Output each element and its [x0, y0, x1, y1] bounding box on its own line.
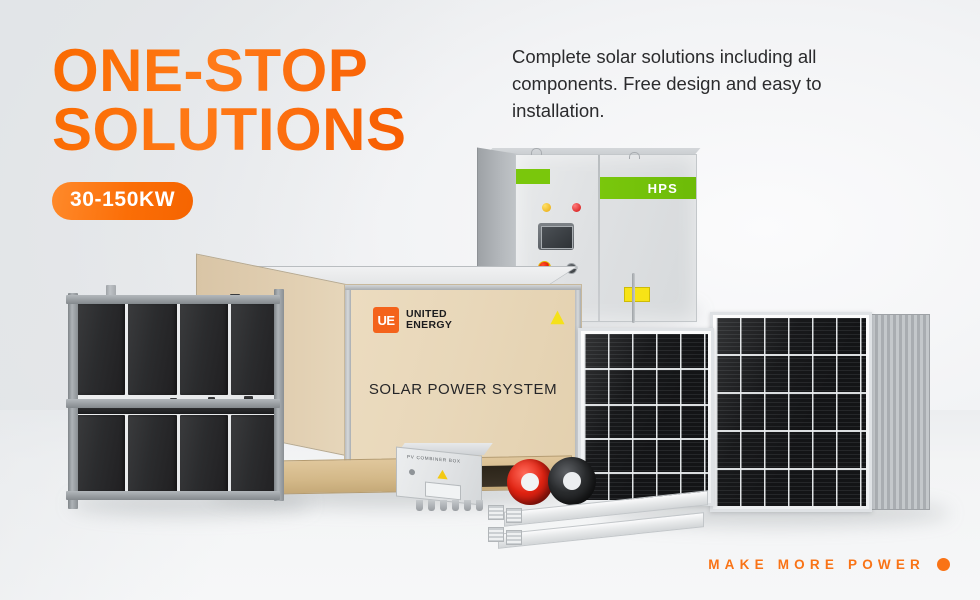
- panel-busbar: [584, 404, 708, 406]
- mounting-rail-bundle: [488, 497, 708, 551]
- combiner-box-knob: [409, 469, 415, 476]
- battery-row-bottom: [76, 415, 280, 493]
- tagline-text: MAKE MORE POWER: [708, 557, 925, 572]
- solar-panel-array: [578, 300, 980, 515]
- battery-block: [128, 303, 177, 395]
- cable-gland: [464, 500, 471, 511]
- page-title: ONE-STOP SOLUTIONS: [52, 42, 407, 160]
- combiner-warning-triangle-icon: [437, 469, 448, 480]
- tagline-dot-icon: [937, 558, 950, 571]
- inverter-green-band-right: HPS: [600, 177, 696, 199]
- solar-panel-rear: [578, 328, 714, 506]
- power-range-badge: 30-150KW: [52, 182, 193, 220]
- rack-beam-bottom: [66, 491, 280, 500]
- combiner-spec-plate: [425, 482, 461, 501]
- solar-product-banner: HPS: [0, 0, 980, 600]
- inverter-model-label: HPS: [648, 181, 678, 196]
- ue-logo-mark: UE: [373, 307, 399, 333]
- rack-beam-top: [66, 295, 280, 304]
- solar-panel-front: [710, 312, 872, 512]
- panel-busbar: [584, 368, 708, 370]
- indicator-lamp-yellow: [542, 203, 551, 212]
- battery-row-top: [76, 303, 280, 395]
- cable-gland: [416, 500, 423, 511]
- panel-busbar: [584, 438, 708, 440]
- battery-block: [76, 303, 125, 395]
- lifting-hook-left: [531, 148, 542, 155]
- battery-block: [231, 303, 280, 395]
- ue-logo-wordmark: UNITED ENERGY: [406, 309, 452, 332]
- panel-busbar: [716, 354, 866, 356]
- battery-block: [76, 415, 125, 493]
- rail-end-profile: [488, 527, 504, 542]
- cable-gland: [440, 500, 447, 511]
- rack-post-front-right: [274, 289, 284, 501]
- rack-beam-middle: [66, 399, 280, 408]
- rail-end-profile: [506, 508, 522, 523]
- lifting-hook-right: [629, 152, 640, 159]
- rack-shelf-middle: [74, 407, 282, 414]
- panel-edge-stack: [868, 314, 930, 510]
- hmi-screen: [541, 226, 573, 249]
- indicator-lamp-red: [572, 203, 581, 212]
- crate-product-title: SOLAR POWER SYSTEM: [345, 381, 581, 398]
- cable-gland: [428, 500, 435, 511]
- tagline-block: MAKE MORE POWER: [708, 557, 950, 572]
- cable-gland: [476, 500, 483, 511]
- hmi-touch-panel: [538, 223, 574, 250]
- panel-busbar: [716, 468, 866, 470]
- solar-cell-grid: [584, 334, 708, 500]
- crate-frame-top: [345, 285, 581, 290]
- battery-block: [180, 303, 229, 395]
- rail-end-profile: [488, 505, 504, 520]
- headline-block: ONE-STOP SOLUTIONS 30-150KW: [52, 42, 407, 220]
- united-energy-logo: UE UNITED ENERGY: [373, 307, 452, 333]
- combiner-box-front: PV COMBINER BOX: [396, 446, 482, 505]
- battery-block: [180, 415, 229, 493]
- battery-block: [231, 415, 280, 493]
- panel-busbar: [716, 392, 866, 394]
- battery-rack: [58, 285, 298, 510]
- pv-combiner-box: PV COMBINER BOX: [390, 443, 494, 511]
- panel-busbar: [716, 430, 866, 432]
- panel-busbar: [584, 472, 708, 474]
- combiner-box-label: PV COMBINER BOX: [407, 454, 461, 464]
- rail-end-profile: [506, 530, 522, 545]
- battery-block: [128, 415, 177, 493]
- solar-cell-grid: [716, 318, 866, 506]
- description-text: Complete solar solutions including all c…: [512, 44, 902, 124]
- cable-gland: [452, 500, 459, 511]
- inverter-green-band-left: [516, 169, 550, 184]
